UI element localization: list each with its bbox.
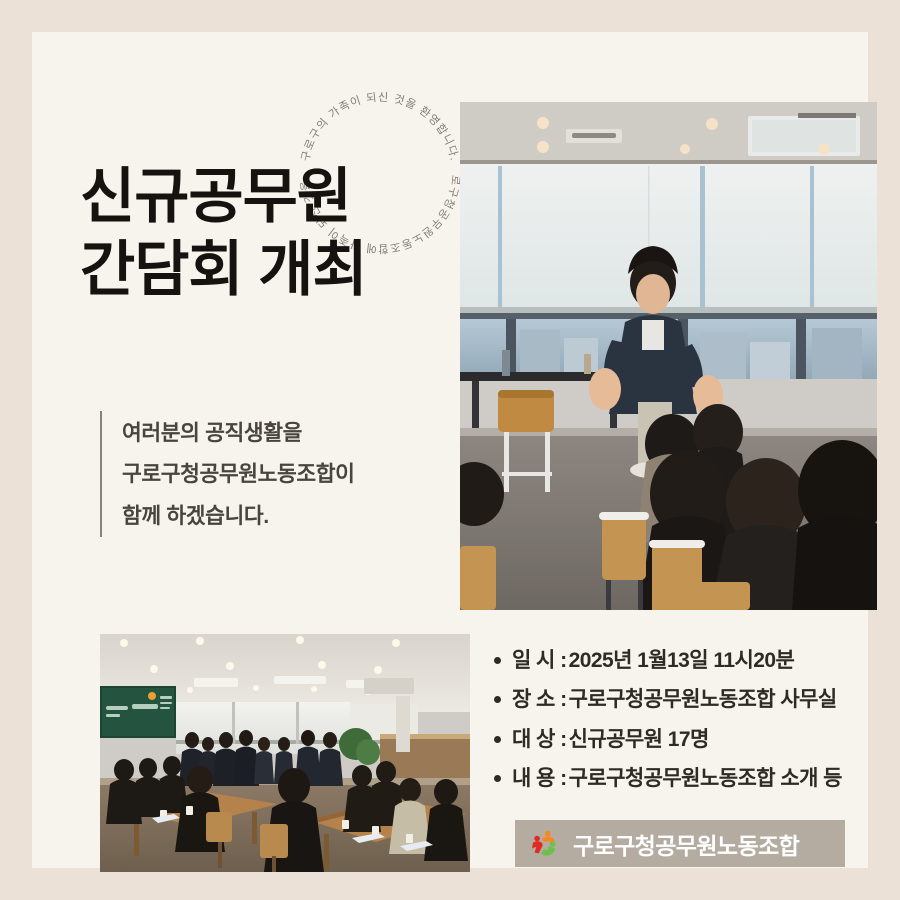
organization-badge: 구로구청공무원노동조합 [515, 820, 845, 867]
info-label: 내 용 : [512, 766, 567, 792]
info-label: 대 상 : [512, 727, 567, 753]
info-label: 장 소 : [512, 687, 567, 713]
bullet-icon [494, 657, 501, 664]
page-title: 신규공무원 간담회 개최 [80, 160, 480, 306]
info-label: 일 시 : [512, 648, 567, 674]
subtitle-accent-rule [100, 411, 102, 537]
bullet-icon [494, 775, 501, 782]
info-value: 신규공무원 17명 [569, 727, 709, 753]
info-value: 2025년 1월13일 11시20분 [569, 648, 795, 674]
info-list: 일 시 : 2025년 1월13일 11시20분 장 소 : 구로구청공무원노동… [494, 648, 894, 805]
info-value: 구로구청공무원노동조합 소개 등 [569, 766, 842, 792]
list-item: 장 소 : 구로구청공무원노동조합 사무실 [494, 687, 894, 713]
info-value: 구로구청공무원노동조합 사무실 [569, 687, 837, 713]
bullet-icon [494, 736, 501, 743]
inner-panel: 구로구의 가족이 되신 것을 환영합니다. 구로구청공무원노동조합에 가족이 되… [32, 32, 868, 868]
list-item: 대 상 : 신규공무원 17명 [494, 727, 894, 753]
stamp-top-text: 구로구의 가족이 되신 것을 환영합니다. [300, 91, 460, 163]
bottom-photo [100, 634, 470, 872]
bullet-icon [494, 696, 501, 703]
poster-root: 구로구의 가족이 되신 것을 환영합니다. 구로구청공무원노동조합에 가족이 되… [0, 0, 900, 900]
list-item: 일 시 : 2025년 1월13일 11시20분 [494, 648, 894, 674]
subtitle-text: 여러분의 공직생활을 구로구청공무원노동조합이 함께 하겠습니다. [122, 411, 355, 537]
list-item: 내 용 : 구로구청공무원노동조합 소개 등 [494, 766, 894, 792]
three-people-logo-icon [528, 827, 561, 860]
main-photo [460, 102, 877, 610]
organization-name: 구로구청공무원노동조합 [573, 827, 799, 861]
subtitle-block: 여러분의 공직생활을 구로구청공무원노동조합이 함께 하겠습니다. [100, 411, 355, 537]
